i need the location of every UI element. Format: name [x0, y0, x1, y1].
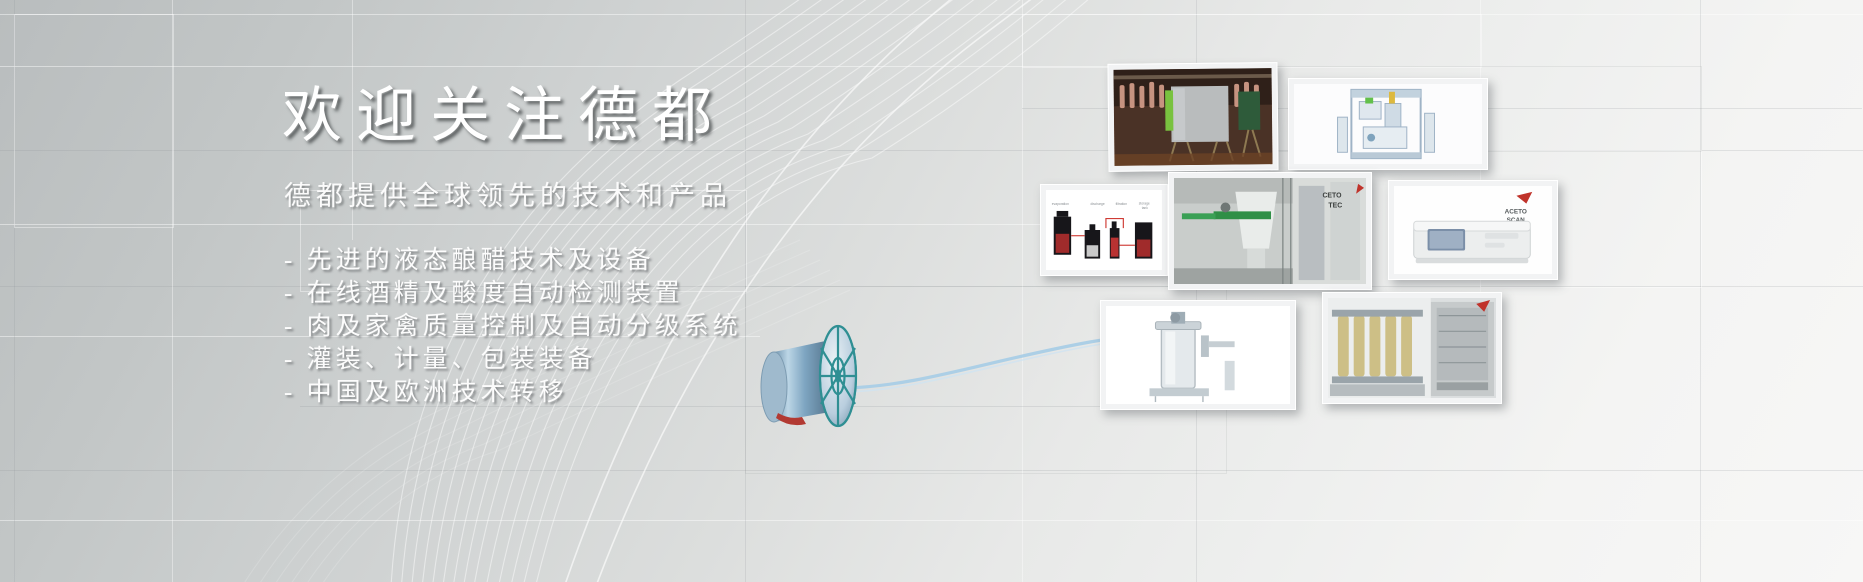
process-diagram-photo[interactable]: evaporation discharge filtration storage… — [1040, 184, 1168, 276]
svg-text:filtration: filtration — [1116, 202, 1128, 206]
promo-banner: 欢迎关注德都 德都提供全球领先的技术和产品 - 先进的液态酿醋技术及设备 - 在… — [0, 0, 1863, 582]
svg-text:ACETO: ACETO — [1505, 208, 1527, 215]
acetoscan-device-photo[interactable]: ACETO SCAN — [1388, 180, 1558, 280]
photo-content: CETO TEC — [1174, 178, 1366, 284]
svg-text:evaporation: evaporation — [1052, 202, 1069, 206]
banner-headline: 欢迎关注德都 — [282, 86, 726, 146]
svg-text:tank: tank — [1142, 206, 1149, 210]
bullet-item: - 在线酒精及酸度自动检测装置 — [284, 277, 742, 310]
photo-content — [1106, 306, 1290, 404]
banner-subline: 德都提供全球领先的技术和产品 — [284, 183, 732, 210]
svg-text:discharge: discharge — [1090, 202, 1104, 206]
photo-content — [1294, 84, 1482, 164]
cable-reel-graphic — [752, 318, 872, 433]
packaging-machine-photo[interactable] — [1288, 78, 1488, 170]
photo-content: evaporation discharge filtration storage… — [1046, 190, 1162, 270]
svg-text:TEC: TEC — [1328, 202, 1342, 209]
fermentation-tank-photo[interactable]: CETO TEC — [1168, 172, 1372, 290]
bullet-item: - 灌装、计量、包装装备 — [284, 343, 742, 376]
bullet-item: - 先进的液态酿醋技术及设备 — [284, 244, 742, 277]
photo-content: ACETO SCAN — [1394, 186, 1552, 274]
banner-bullet-list: - 先进的液态酿醋技术及设备 - 在线酒精及酸度自动检测装置 - 肉及家禽质量控… — [284, 244, 742, 409]
bullet-item: - 肉及家禽质量控制及自动分级系统 — [284, 310, 742, 343]
background-grid — [0, 0, 1863, 582]
poultry-chiller-photo[interactable] — [1107, 62, 1278, 172]
photo-content — [1328, 298, 1496, 398]
svg-text:storage: storage — [1139, 201, 1150, 205]
photo-content — [1114, 68, 1273, 166]
membrane-filter-photo[interactable] — [1322, 292, 1502, 404]
svg-text:CETO: CETO — [1322, 193, 1342, 200]
bullet-item: - 中国及欧洲技术转移 — [284, 376, 742, 409]
filtration-unit-photo[interactable] — [1100, 300, 1296, 410]
